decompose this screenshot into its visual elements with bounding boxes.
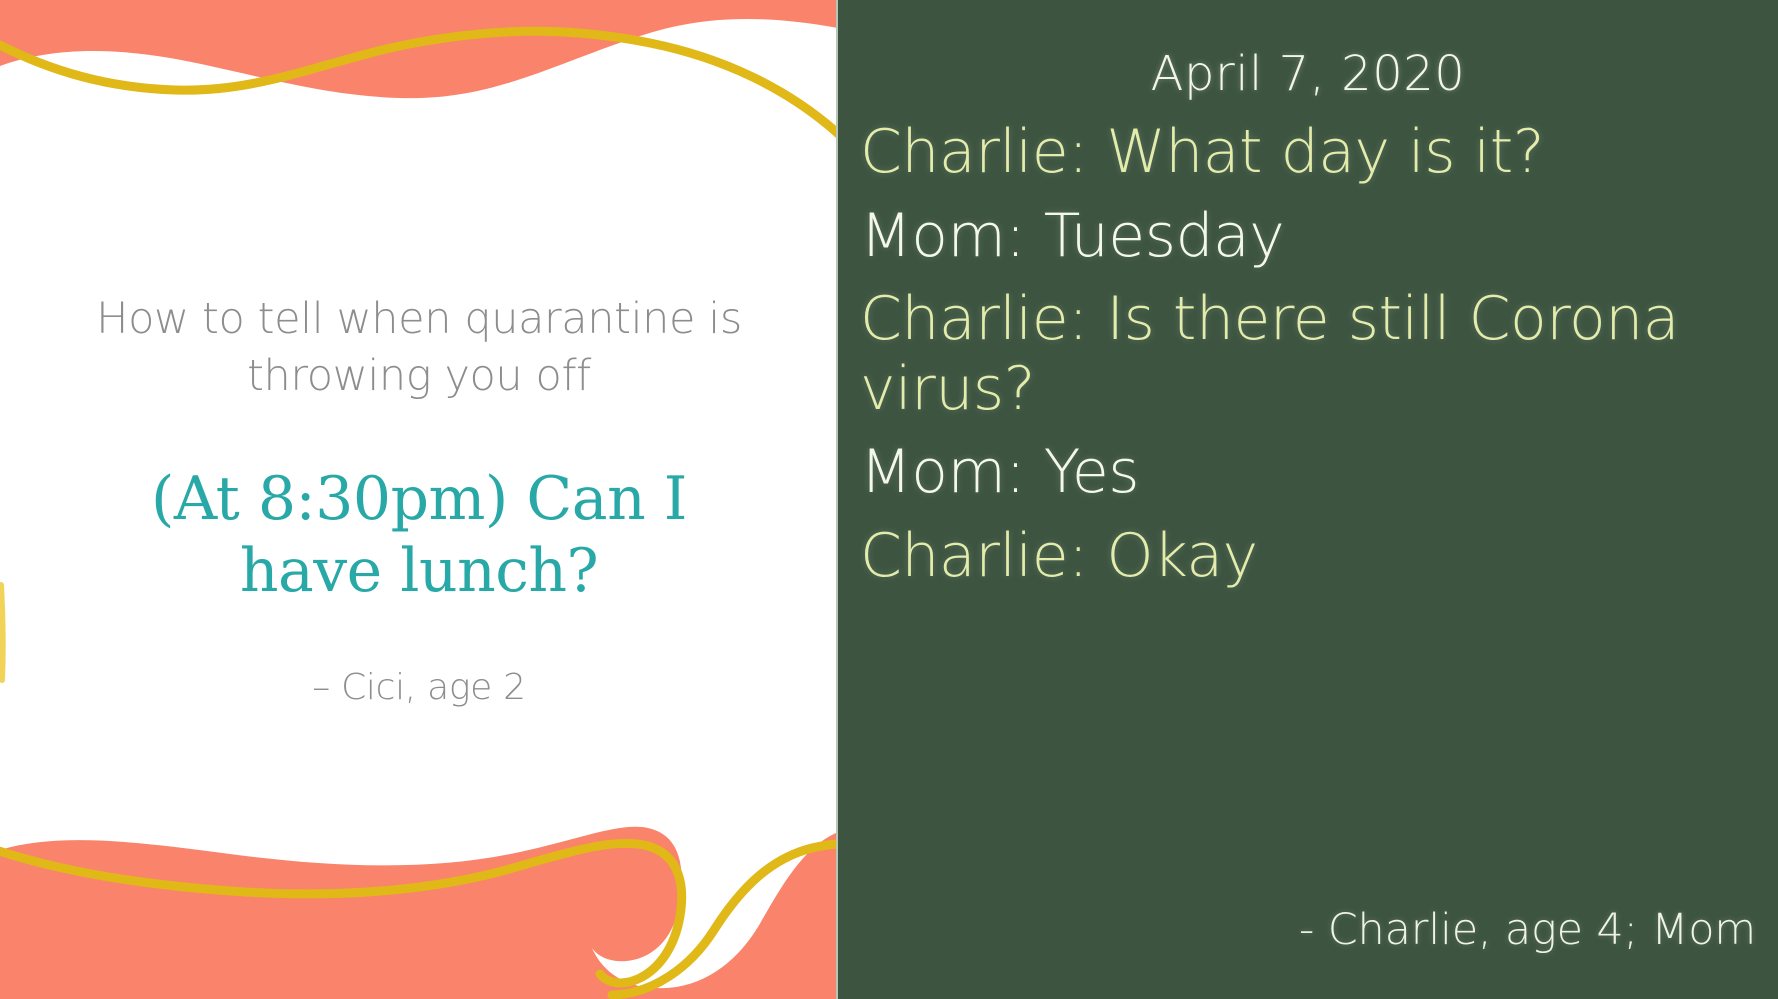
chalkboard-line-mom: Mom: Yes	[860, 438, 1756, 508]
chalkboard-date: April 7, 2020	[860, 46, 1756, 102]
slide-pair-container: How to tell when quarantine is throwing …	[0, 0, 1778, 999]
chalkboard-line-mom: Mom: Tuesday	[860, 202, 1756, 272]
left-quote-card: How to tell when quarantine is throwing …	[0, 0, 838, 999]
left-card-text-block: How to tell when quarantine is throwing …	[0, 0, 838, 999]
quarantine-attribution: – Cici, age 2	[312, 667, 526, 708]
right-chalkboard-card: April 7, 2020 Charlie: What day is it?Mo…	[838, 0, 1778, 999]
quarantine-heading: How to tell when quarantine is throwing …	[74, 291, 764, 405]
chalkboard-dialogue-list: Charlie: What day is it?Mom: TuesdayChar…	[860, 118, 1756, 905]
chalkboard-line-charlie: Charlie: Okay	[860, 522, 1756, 592]
chalkboard-attribution: - Charlie, age 4; Mom	[860, 905, 1756, 955]
chalkboard-line-charlie: Charlie: What day is it?	[860, 118, 1756, 188]
quarantine-quote: (At 8:30pm) Can I have lunch?	[99, 463, 739, 607]
chalkboard-line-charlie: Charlie: Is there still Corona virus?	[860, 285, 1756, 424]
